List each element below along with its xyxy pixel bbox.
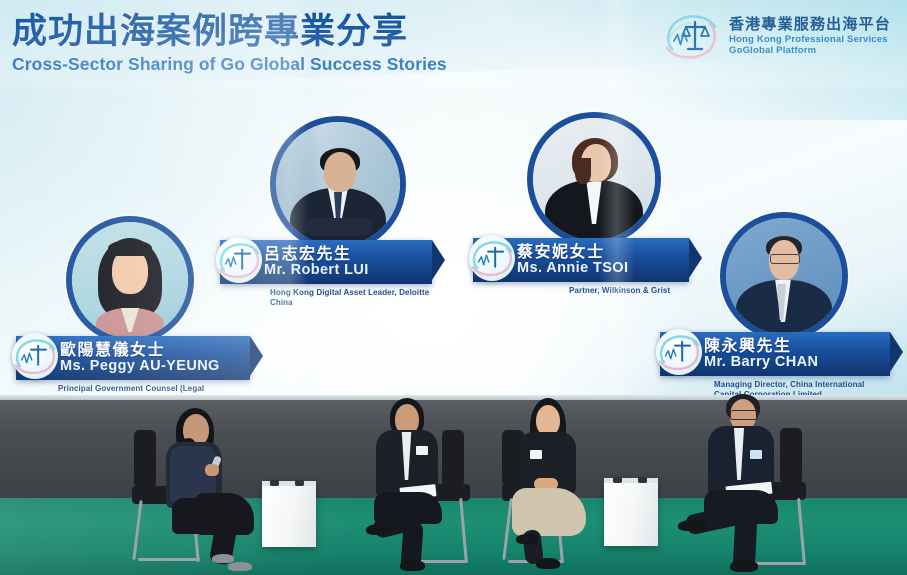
name-plate-robert-lui: 呂志宏先生 Mr. Robert LUI Hong Kong Digital A… [220, 240, 432, 309]
plate-badge-icon [469, 235, 515, 281]
scales-of-justice-logo-icon [12, 333, 58, 379]
plate-badge-icon [216, 237, 262, 283]
scales-of-justice-logo-icon [469, 235, 515, 281]
scales-of-justice-logo-icon [662, 12, 720, 60]
title-english: Cross-Sector Sharing of Go Global Succes… [12, 54, 447, 75]
speaker-name-english: Ms. Peggy AU-YEUNG [60, 359, 220, 374]
speaker-name-chinese: 呂志宏先生 [264, 246, 369, 263]
portrait-barry-chan [726, 218, 842, 334]
portrait-peggy-au-yeung [72, 222, 188, 338]
speaker-name-english: Mr. Barry CHAN [704, 355, 818, 370]
name-badge [416, 446, 428, 455]
name-badge [750, 450, 762, 459]
speaker-subtitle: Hong Kong Digital Asset Leader, Deloitte… [270, 288, 430, 309]
name-plate-annie-tsoi: 蔡安妮女士 Ms. Annie TSOI Partner, Wilkinson … [473, 238, 689, 296]
logo-name-english-2: GoGlobal Platform [729, 45, 891, 56]
screen-sheen [0, 53, 907, 241]
speaker-name-chinese: 陳永興先生 [704, 338, 818, 355]
page-title: 成功出海案例跨專業分享 Cross-Sector Sharing of Go G… [12, 14, 447, 75]
panelist-2 [368, 392, 488, 572]
name-badge [530, 450, 542, 459]
logo-name-english-1: Hong Kong Professional Services [729, 34, 891, 45]
portrait-annie-tsoi [533, 118, 655, 240]
table-item [270, 480, 279, 486]
table-item [613, 477, 622, 483]
speaker-name-chinese: 歐陽慧儀女士 [60, 342, 220, 359]
side-table-right [604, 478, 658, 546]
eyeglasses-icon [730, 410, 758, 420]
side-table-left [262, 481, 316, 547]
speaker-name-english: Mr. Robert LUI [264, 263, 369, 278]
plate-badge-icon [12, 333, 58, 379]
scales-of-justice-logo-icon [216, 237, 262, 283]
event-photo: 成功出海案例跨專業分享 Cross-Sector Sharing of Go G… [0, 0, 907, 575]
speaker-name-english: Ms. Annie TSOI [517, 261, 628, 276]
portrait-robert-lui [276, 122, 400, 246]
table-item [638, 477, 647, 483]
scales-of-justice-logo-icon [656, 329, 702, 375]
platform-logo: 香港專業服務出海平台 Hong Kong Professional Servic… [662, 12, 891, 60]
panelist-1 [150, 398, 280, 573]
plate-badge-icon [656, 329, 702, 375]
panelist-4 [700, 388, 826, 574]
projection-screen: 成功出海案例跨專業分享 Cross-Sector Sharing of Go G… [0, 0, 907, 400]
logo-name-chinese: 香港專業服務出海平台 [729, 16, 891, 34]
speaker-name-chinese: 蔡安妮女士 [517, 244, 628, 261]
table-item [295, 480, 304, 486]
speaker-subtitle: Partner, Wilkinson & Grist [569, 286, 719, 296]
title-chinese: 成功出海案例跨專業分享 [12, 14, 447, 51]
